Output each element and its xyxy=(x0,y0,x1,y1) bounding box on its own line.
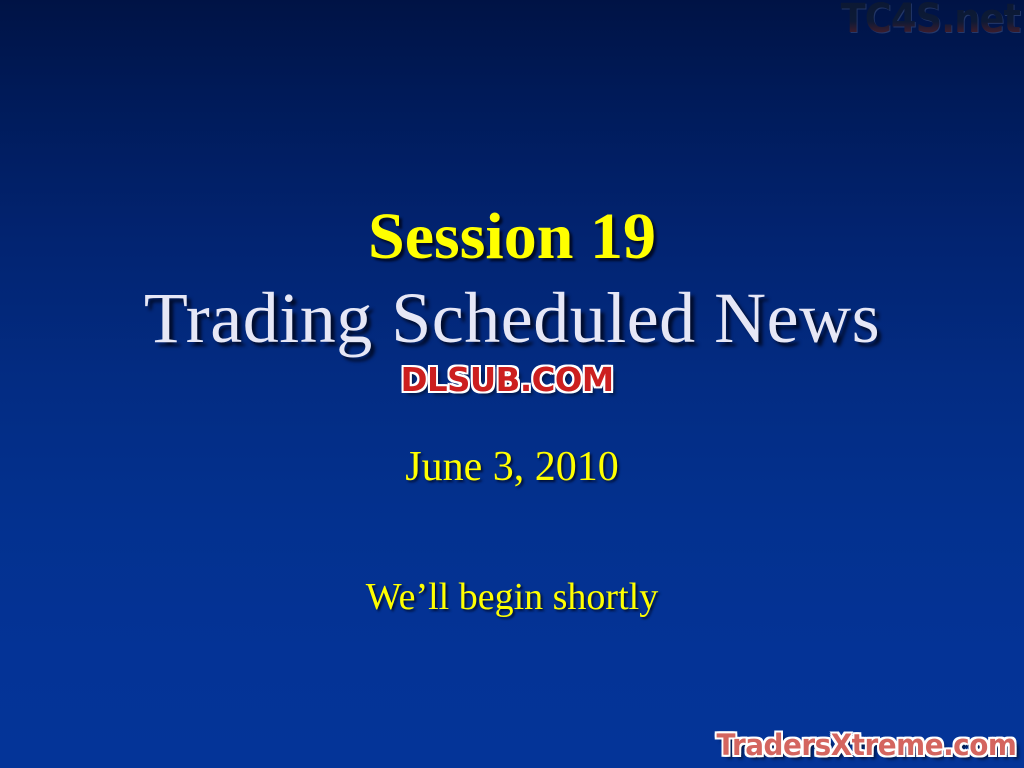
session-title: Session 19 xyxy=(0,204,1024,270)
presentation-slide: TC4S.net Session 19 Trading Scheduled Ne… xyxy=(0,0,1024,768)
title-block: Session 19 Trading Scheduled News xyxy=(0,204,1024,354)
tc4s-watermark: TC4S.net xyxy=(840,0,1020,42)
dlsub-watermark: DLSUB.COM xyxy=(365,360,649,399)
standby-message: We’ll begin shortly xyxy=(0,575,1024,619)
slide-subtitle: Trading Scheduled News xyxy=(0,282,1024,354)
tradersxtreme-logo: TradersXtreme.com xyxy=(716,728,1016,762)
session-date: June 3, 2010 xyxy=(0,443,1024,491)
